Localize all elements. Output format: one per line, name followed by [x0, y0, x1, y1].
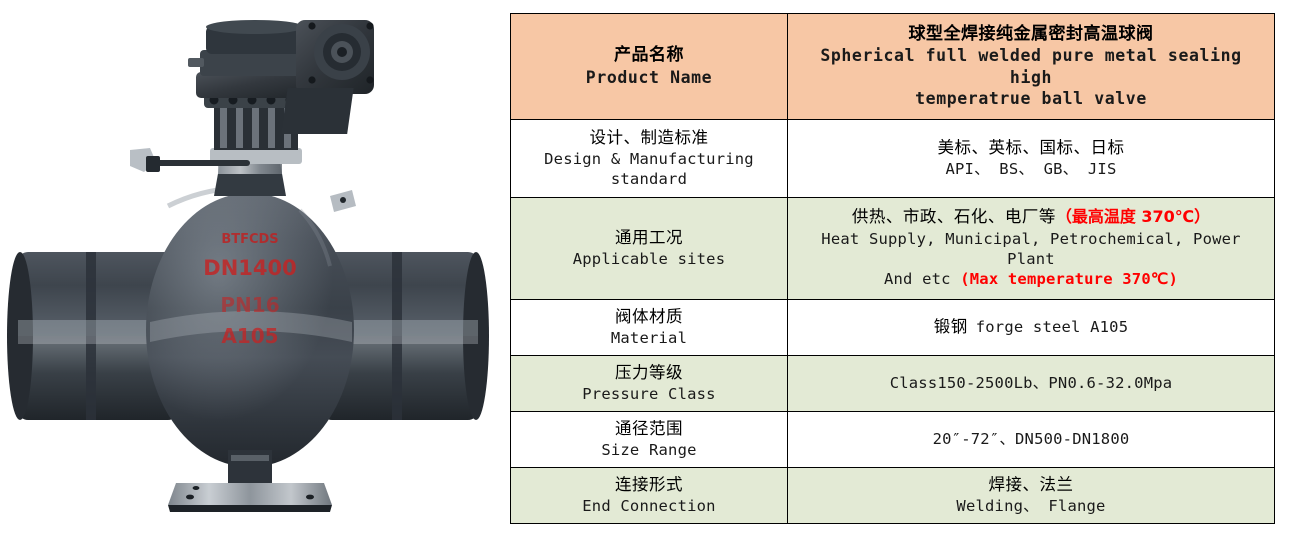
- cell-value-material: 锻钢 forge steel A105: [788, 299, 1275, 355]
- lifting-lug: [330, 190, 356, 212]
- cell-value-pressure-class: Class150-2500Lb、PN0.6-32.0Mpa: [788, 355, 1275, 411]
- body-marking-pressure: PN16: [220, 293, 279, 317]
- label-cn-material: 阀体材质: [517, 306, 781, 328]
- cell-label-end-connection: 连接形式 End Connection: [511, 467, 788, 523]
- cell-label-design-standard: 设计、制造标准 Design & Manufacturing standard: [511, 119, 788, 197]
- specification-table-container: 产品名称 Product Name 球型全焊接纯金属密封高温球阀 Spheric…: [510, 13, 1274, 524]
- cell-value-design-standard: 美标、英标、国标、日标 API、 BS、 GB、 JIS: [788, 119, 1275, 197]
- page-root: BTFCDS DN1400 PN16 A105: [0, 0, 1305, 547]
- value-cn-max-temp-badge: （最高温度 370℃）: [1056, 207, 1210, 226]
- table-row-applicable-sites: 通用工况 Applicable sites 供热、市政、石化、电厂等（最高温度 …: [511, 198, 1275, 300]
- value-cn-end-connection: 焊接、法兰: [794, 474, 1268, 496]
- value-cn-material: 锻钢: [934, 317, 968, 336]
- body-marking-material: A105: [221, 324, 278, 348]
- cell-label-pressure-class: 压力等级 Pressure Class: [511, 355, 788, 411]
- product-specification-table: 产品名称 Product Name 球型全焊接纯金属密封高温球阀 Spheric…: [510, 13, 1275, 524]
- value-cn-product-name: 球型全焊接纯金属密封高温球阀: [794, 23, 1268, 45]
- label-cn-applicable-sites: 通用工况: [517, 227, 781, 249]
- label-en-design-standard-line2: standard: [517, 169, 781, 189]
- label-en-design-standard-line1: Design & Manufacturing: [517, 149, 781, 169]
- table-row-pressure-class: 压力等级 Pressure Class Class150-2500Lb、PN0.…: [511, 355, 1275, 411]
- table-row-design-standard: 设计、制造标准 Design & Manufacturing standard …: [511, 119, 1275, 197]
- value-en-applicable-sites-line1: Heat Supply, Municipal, Petrochemical, P…: [794, 229, 1268, 270]
- value-en-max-temp-badge: (Max temperature 370℃): [960, 270, 1178, 288]
- label-cn-product-name: 产品名称: [517, 44, 781, 66]
- valve-spherical-body: BTFCDS DN1400 PN16 A105: [146, 188, 354, 467]
- label-en-applicable-sites: Applicable sites: [517, 249, 781, 269]
- product-photo-pane: BTFCDS DN1400 PN16 A105: [0, 0, 500, 547]
- cell-label-size-range: 通径范围 Size Range: [511, 411, 788, 467]
- value-en-applicable-sites-line2: And etc: [884, 270, 960, 288]
- table-row-material: 阀体材质 Material 锻钢 forge steel A105: [511, 299, 1275, 355]
- value-en-size-range: 20″-72″、DN500-DN1800: [794, 429, 1268, 449]
- label-cn-size-range: 通径范围: [517, 418, 781, 440]
- table-row-product-name: 产品名称 Product Name 球型全焊接纯金属密封高温球阀 Spheric…: [511, 14, 1275, 120]
- cell-value-applicable-sites: 供热、市政、石化、电厂等（最高温度 370℃） Heat Supply, Mun…: [788, 198, 1275, 300]
- value-en-pressure-class: Class150-2500Lb、PN0.6-32.0Mpa: [794, 373, 1268, 393]
- value-cn-design-standard: 美标、英标、国标、日标: [794, 137, 1268, 159]
- label-cn-end-connection: 连接形式: [517, 474, 781, 496]
- value-cn-applicable-sites: 供热、市政、石化、电厂等: [852, 207, 1056, 226]
- valve-product-image: BTFCDS DN1400 PN16 A105: [0, 0, 500, 547]
- label-en-end-connection: End Connection: [517, 496, 781, 516]
- table-row-end-connection: 连接形式 End Connection 焊接、法兰 Welding、 Flang…: [511, 467, 1275, 523]
- cell-label-applicable-sites: 通用工况 Applicable sites: [511, 198, 788, 300]
- value-en-product-name-line2: temperatrue ball valve: [794, 88, 1268, 110]
- body-marking-logo: BTFCDS: [221, 232, 278, 247]
- label-en-product-name: Product Name: [517, 67, 781, 89]
- cell-value-product-name: 球型全焊接纯金属密封高温球阀 Spherical full welded pur…: [788, 14, 1275, 120]
- label-cn-pressure-class: 压力等级: [517, 362, 781, 384]
- value-en-material: forge steel A105: [976, 318, 1129, 336]
- value-en-end-connection: Welding、 Flange: [794, 496, 1268, 516]
- body-marking-size: DN1400: [203, 256, 296, 280]
- table-row-size-range: 通径范围 Size Range 20″-72″、DN500-DN1800: [511, 411, 1275, 467]
- label-en-size-range: Size Range: [517, 440, 781, 460]
- cell-value-size-range: 20″-72″、DN500-DN1800: [788, 411, 1275, 467]
- label-en-pressure-class: Pressure Class: [517, 384, 781, 404]
- value-en-design-standard: API、 BS、 GB、 JIS: [794, 159, 1268, 179]
- cell-label-product-name: 产品名称 Product Name: [511, 14, 788, 120]
- cell-value-end-connection: 焊接、法兰 Welding、 Flange: [788, 467, 1275, 523]
- gearbox-indicator-stub: [188, 58, 204, 67]
- label-cn-design-standard: 设计、制造标准: [517, 127, 781, 149]
- cell-label-material: 阀体材质 Material: [511, 299, 788, 355]
- value-en-product-name-line1: Spherical full welded pure metal sealing…: [794, 45, 1268, 89]
- label-en-material: Material: [517, 328, 781, 348]
- valve-base-support: [168, 450, 332, 512]
